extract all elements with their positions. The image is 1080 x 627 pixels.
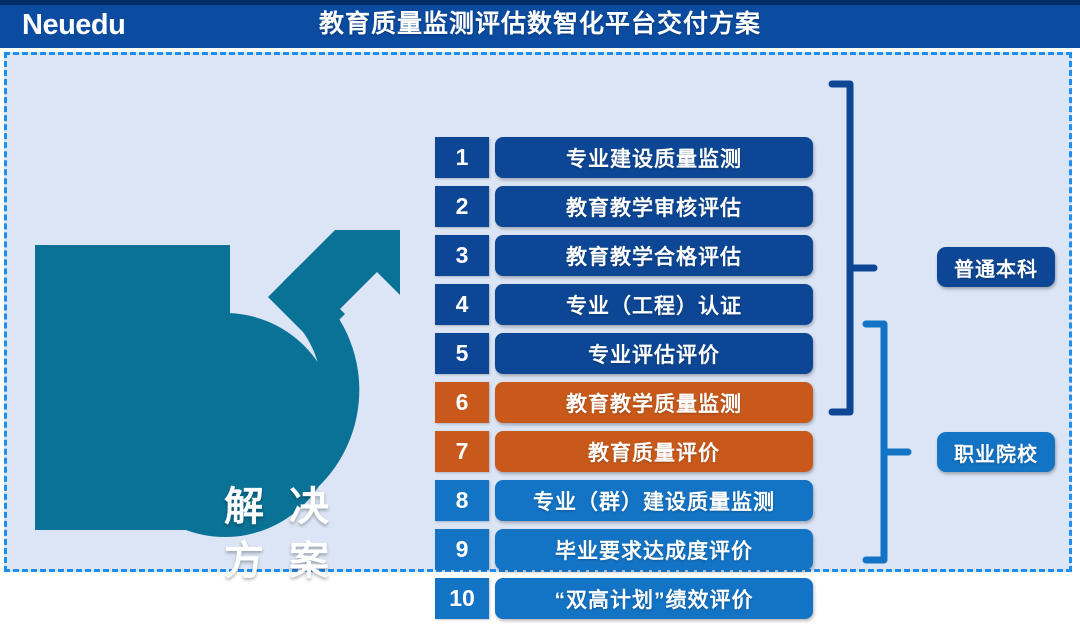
solution-graphic-label: 解 决 方 案	[180, 480, 380, 588]
module-number-badge: 1	[435, 137, 489, 178]
list-item[interactable]: 10 “双高计划”绩效评价	[435, 578, 813, 619]
module-label-bar[interactable]: 毕业要求达成度评价	[495, 529, 813, 570]
module-number-badge: 3	[435, 235, 489, 276]
module-label-bar[interactable]: 专业建设质量监测	[495, 137, 813, 178]
bracket-undergraduate	[832, 84, 874, 412]
module-label-bar[interactable]: 专业（群）建设质量监测	[495, 480, 813, 521]
solution-label-line-1: 解 决	[180, 480, 380, 534]
module-label-bar[interactable]: “双高计划”绩效评价	[495, 578, 813, 619]
module-number-badge: 9	[435, 529, 489, 570]
module-label-bar[interactable]: 专业评估评价	[495, 333, 813, 374]
solution-graphic: 解 决 方 案	[25, 220, 425, 620]
list-item[interactable]: 1 专业建设质量监测	[435, 137, 813, 178]
module-label-bar[interactable]: 教育教学审核评估	[495, 186, 813, 227]
module-number-badge: 7	[435, 431, 489, 472]
list-item[interactable]: 2 教育教学审核评估	[435, 186, 813, 227]
module-list: 1 专业建设质量监测 2 教育教学审核评估 3 教育教学合格评估 4 专业（工程…	[435, 137, 813, 627]
module-label-bar[interactable]: 教育教学质量监测	[495, 382, 813, 423]
module-number-badge: 5	[435, 333, 489, 374]
list-item[interactable]: 4 专业（工程）认证	[435, 284, 813, 325]
module-label-bar[interactable]: 专业（工程）认证	[495, 284, 813, 325]
module-number-badge: 8	[435, 480, 489, 521]
list-item[interactable]: 7 教育质量评价	[435, 431, 813, 472]
list-item[interactable]: 3 教育教学合格评估	[435, 235, 813, 276]
module-number-badge: 10	[435, 578, 489, 619]
module-number-badge: 4	[435, 284, 489, 325]
slide-header: Neuedu 教育质量监测评估数智化平台交付方案	[0, 0, 1080, 48]
module-label-bar[interactable]: 教育教学合格评估	[495, 235, 813, 276]
list-item[interactable]: 8 专业（群）建设质量监测	[435, 480, 813, 521]
module-number-badge: 2	[435, 186, 489, 227]
module-label-bar[interactable]: 教育质量评价	[495, 431, 813, 472]
group-label-undergraduate[interactable]: 普通本科	[937, 247, 1055, 287]
list-item[interactable]: 5 专业评估评价	[435, 333, 813, 374]
bracket-vocational	[866, 324, 908, 560]
module-number-badge: 6	[435, 382, 489, 423]
list-item[interactable]: 6 教育教学质量监测	[435, 382, 813, 423]
header-top-accent-bar	[0, 0, 1080, 5]
group-brackets	[828, 60, 948, 580]
list-item[interactable]: 9 毕业要求达成度评价	[435, 529, 813, 570]
group-label-vocational[interactable]: 职业院校	[937, 432, 1055, 472]
page-title: 教育质量监测评估数智化平台交付方案	[0, 7, 1080, 41]
slide-root: Neuedu 教育质量监测评估数智化平台交付方案 解 决 方 案	[0, 0, 1080, 580]
